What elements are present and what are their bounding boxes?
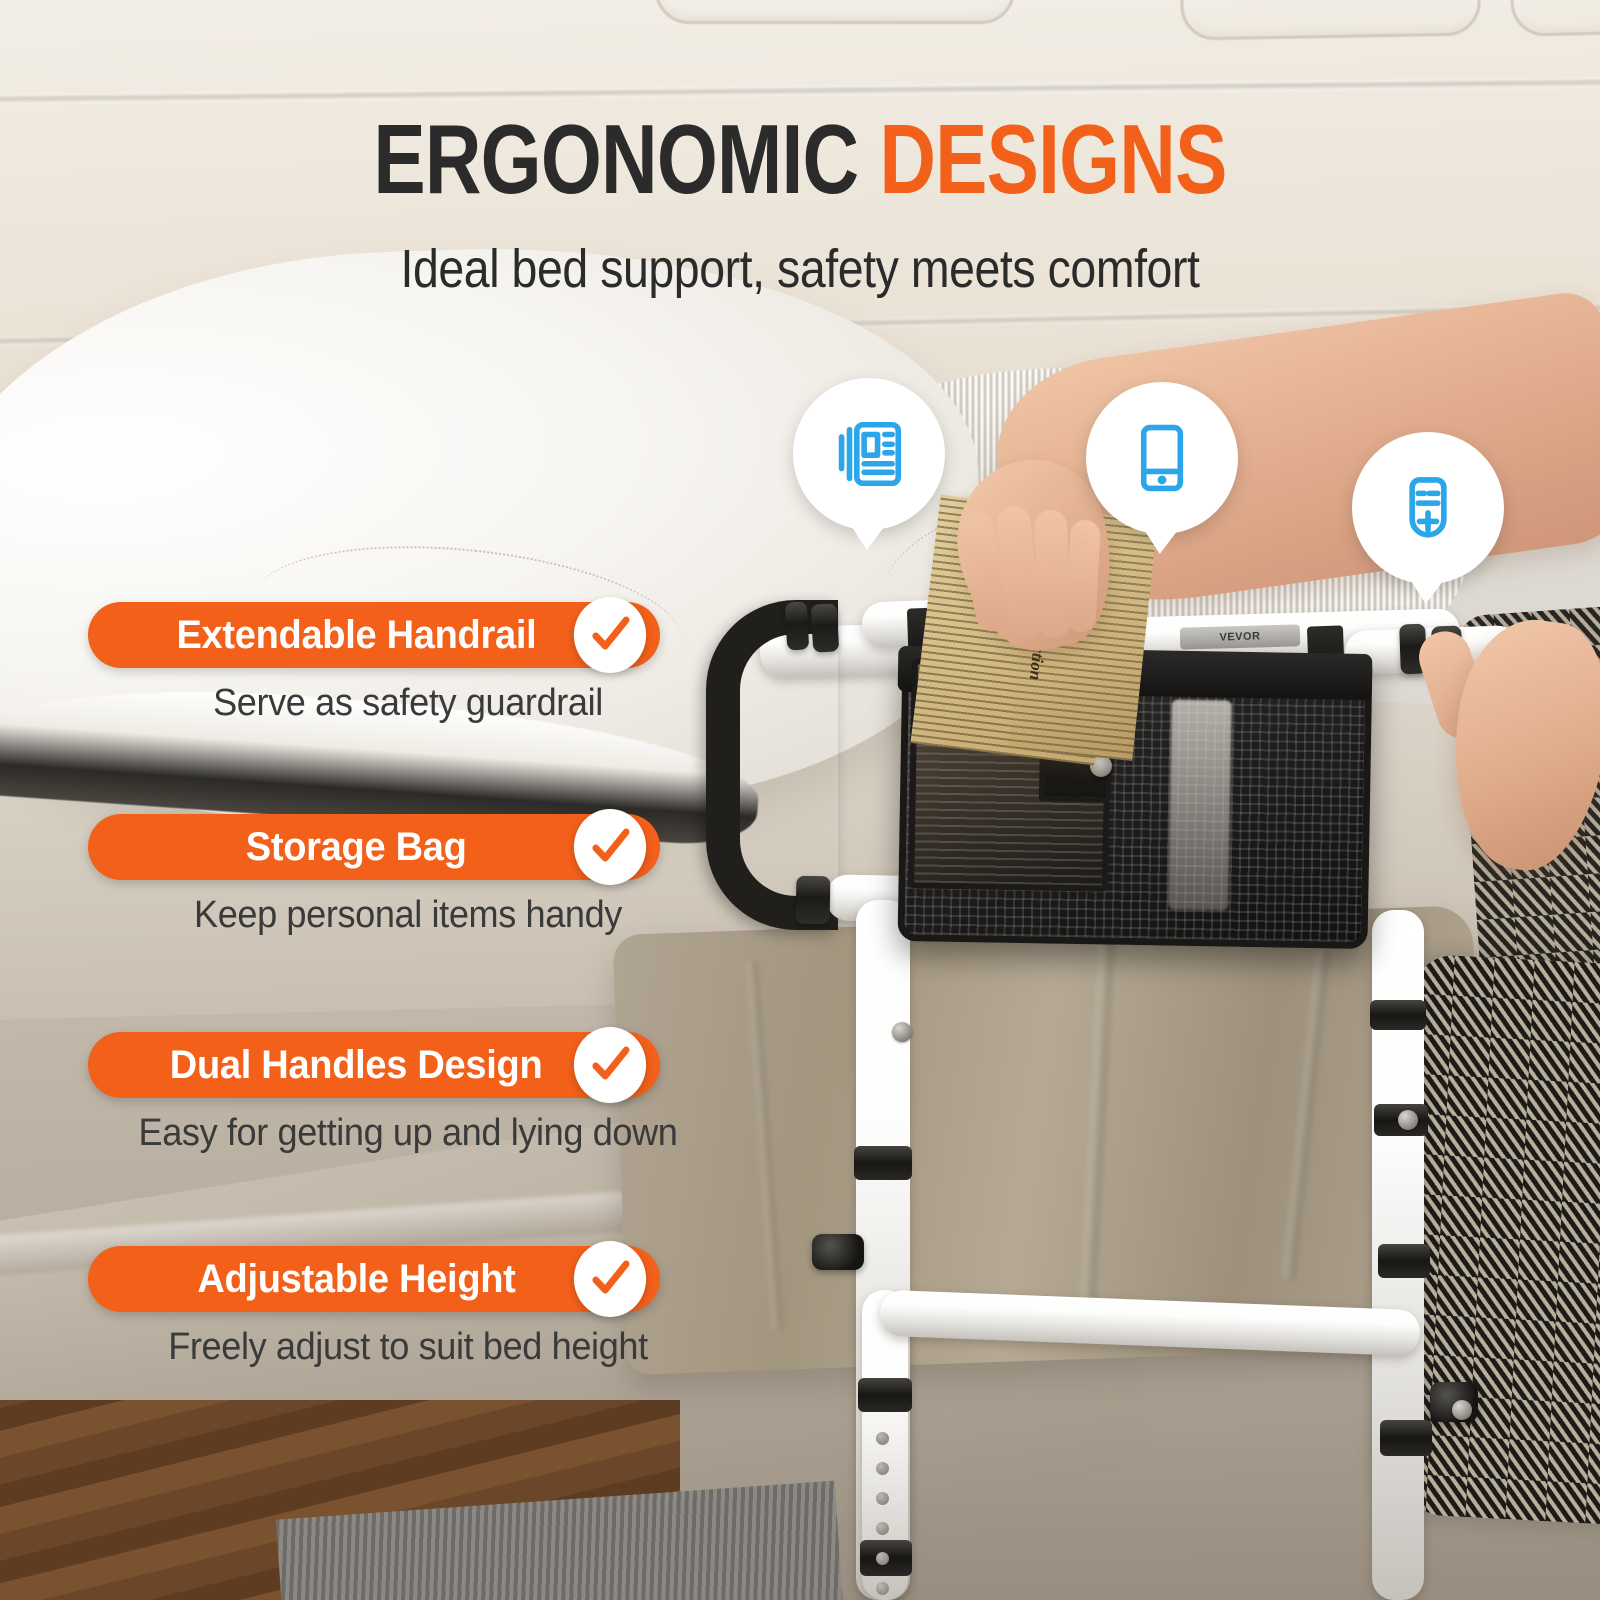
feature-pill-4[interactable]: Adjustable Height <box>88 1246 660 1312</box>
leg-collar <box>1370 1000 1426 1030</box>
checkmark-icon <box>574 809 646 885</box>
title-part-1: ERGONOMIC <box>373 104 858 214</box>
feature-pill-3[interactable]: Dual Handles Design <box>88 1032 660 1098</box>
feature-label-1: Extendable Handrail <box>176 613 536 658</box>
rail-bolt <box>1398 1110 1418 1130</box>
badge-smartphone <box>1086 382 1238 534</box>
leg-collar <box>1380 1420 1432 1456</box>
feature-label-2: Storage Bag <box>246 825 467 870</box>
newspaper-icon <box>830 415 908 493</box>
page-subtitle: Ideal bed support, safety meets comfort <box>112 238 1488 300</box>
rail-brand-label: VEVOR <box>1180 624 1301 649</box>
checkmark-icon <box>574 1027 646 1103</box>
feature-description-4: Freely adjust to suit bed height <box>104 1326 712 1369</box>
feature-label-4: Adjustable Height <box>197 1257 515 1302</box>
height-adjust-holes <box>876 1432 890 1592</box>
rail-collar <box>811 603 839 652</box>
feature-block-3: Dual Handles Design Easy for getting up … <box>88 1032 728 1155</box>
rail-cross-bar <box>879 1290 1420 1357</box>
checkmark-icon <box>574 1241 646 1317</box>
feature-description-3: Easy for getting up and lying down <box>104 1112 712 1155</box>
rail-bolt <box>892 1022 912 1042</box>
feature-description-2: Keep personal items handy <box>104 894 712 937</box>
badge-remote-control <box>1352 432 1504 584</box>
feature-pill-2[interactable]: Storage Bag <box>88 814 660 880</box>
page-title: ERGONOMIC DESIGNS <box>160 110 1440 208</box>
height-adjust-knob <box>812 1234 864 1270</box>
leg-collar <box>858 1378 912 1412</box>
rail-bolt <box>1452 1400 1472 1420</box>
checkmark-icon <box>574 597 646 673</box>
feature-pill-1[interactable]: Extendable Handrail <box>88 602 660 668</box>
feature-label-3: Dual Handles Design <box>170 1043 543 1088</box>
banner-stage: VEVOR <box>0 0 1600 1600</box>
leg-collar <box>854 1146 912 1180</box>
smartphone-icon <box>1123 419 1201 497</box>
rail-collar <box>796 876 831 925</box>
storage-bag-contents <box>1168 699 1232 910</box>
finger <box>1065 519 1101 632</box>
feature-block-1: Extendable Handrail Serve as safety guar… <box>88 602 728 725</box>
title-part-2: DESIGNS <box>879 104 1226 214</box>
feature-block-2: Storage Bag Keep personal items handy <box>88 814 728 937</box>
remote-control-icon <box>1389 469 1467 547</box>
badge-newspaper <box>793 378 945 530</box>
feature-block-4: Adjustable Height Freely adjust to suit … <box>88 1246 728 1369</box>
feature-description-1: Serve as safety guardrail <box>104 682 712 725</box>
leg-collar <box>1378 1244 1430 1278</box>
rail-collar <box>785 601 809 650</box>
